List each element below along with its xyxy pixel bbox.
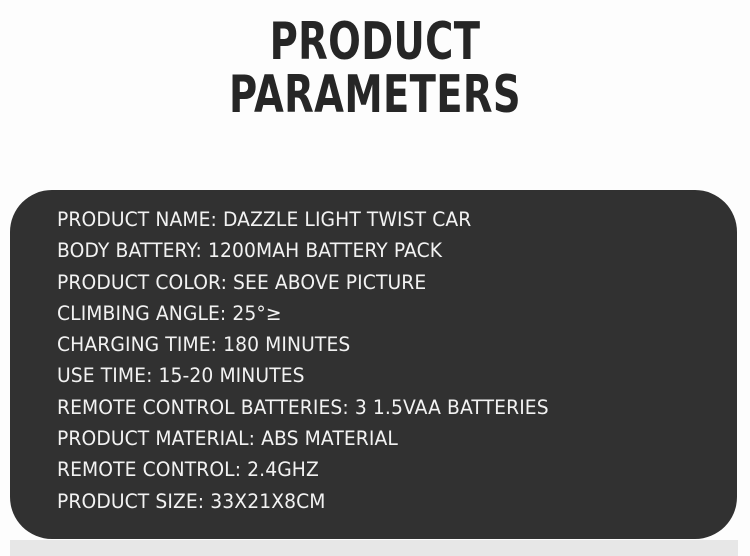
- page-title-line-2: PARAMETERS: [98, 69, 653, 121]
- list-item: REMOTE CONTROL: 2.4GHZ: [57, 454, 710, 485]
- bottom-divider-band: [10, 540, 738, 556]
- list-item: REMOTE CONTROL BATTERIES: 3 1.5VAA BATTE…: [57, 392, 710, 423]
- specification-card: PRODUCT NAME: DAZZLE LIGHT TWIST CAR BOD…: [10, 190, 737, 539]
- page-title-line-1: PRODUCT: [98, 16, 653, 68]
- specification-list: PRODUCT NAME: DAZZLE LIGHT TWIST CAR BOD…: [57, 204, 737, 517]
- product-parameters-page: PRODUCT PARAMETERS PRODUCT NAME: DAZZLE …: [0, 0, 750, 556]
- list-item: PRODUCT COLOR: SEE ABOVE PICTURE: [57, 267, 710, 298]
- list-item: CLIMBING ANGLE: 25°≥: [57, 298, 710, 329]
- list-item: PRODUCT SIZE: 33X21X8CM: [57, 486, 710, 517]
- list-item: PRODUCT MATERIAL: ABS MATERIAL: [57, 423, 710, 454]
- page-title: PRODUCT PARAMETERS: [0, 16, 750, 121]
- list-item: USE TIME: 15-20 MINUTES: [57, 360, 710, 391]
- list-item: CHARGING TIME: 180 MINUTES: [57, 329, 710, 360]
- list-item: PRODUCT NAME: DAZZLE LIGHT TWIST CAR: [57, 204, 710, 235]
- list-item: BODY BATTERY: 1200MAH BATTERY PACK: [57, 235, 710, 266]
